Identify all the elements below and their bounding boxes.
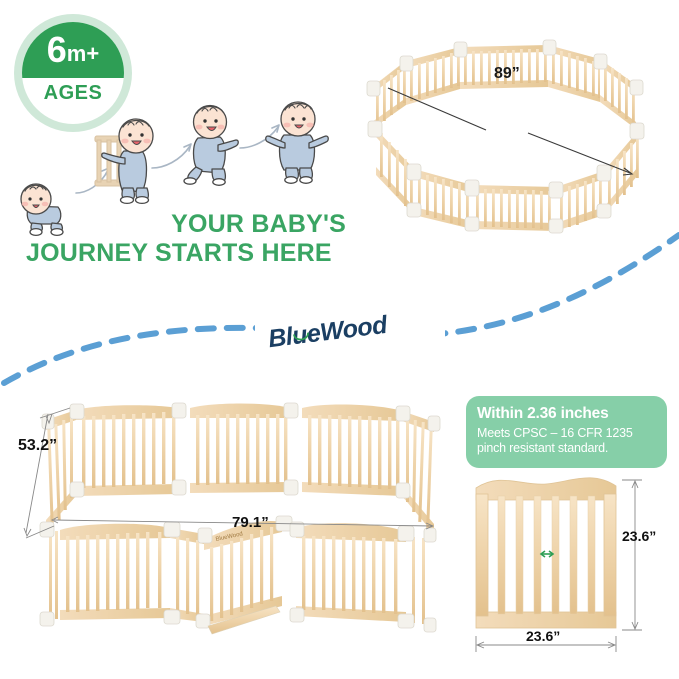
ages-label: AGES (44, 82, 103, 105)
infographic-canvas: 6 m+ AGES (0, 0, 679, 679)
pinch-resistant-note: Within 2.36 inches Meets CPSC – 16 CFR 1… (466, 396, 667, 468)
note-body-line-1: Meets CPSC – 16 CFR 1235 (477, 426, 656, 441)
rect-pen-height-label: 53.2” (18, 437, 57, 455)
ages-badge-top: 6 m+ (22, 22, 124, 78)
ages-badge-inner: 6 m+ AGES (22, 22, 124, 124)
note-title: Within 2.36 inches (477, 405, 656, 423)
brand-divider (0, 215, 679, 390)
octagonal-playpen-illustration (348, 25, 674, 235)
single-panel-width-label: 23.6” (526, 628, 560, 644)
single-panel-illustration (470, 470, 670, 660)
note-body-line-2: pinch resistant standard. (477, 441, 656, 456)
rect-pen-width-label: 79.1” (232, 514, 269, 531)
brand-name-part2: u (290, 321, 308, 352)
brand-name-part1: Bl (267, 322, 294, 353)
baby-standing (262, 100, 334, 184)
age-number: 6 (47, 32, 66, 68)
age-unit: m+ (67, 43, 99, 65)
single-panel-height-label: 23.6” (622, 528, 656, 544)
ages-badge: 6 m+ AGES (14, 14, 132, 132)
octagon-diameter-label: 89” (494, 65, 520, 83)
slat-gap-arrow-icon (541, 551, 553, 557)
